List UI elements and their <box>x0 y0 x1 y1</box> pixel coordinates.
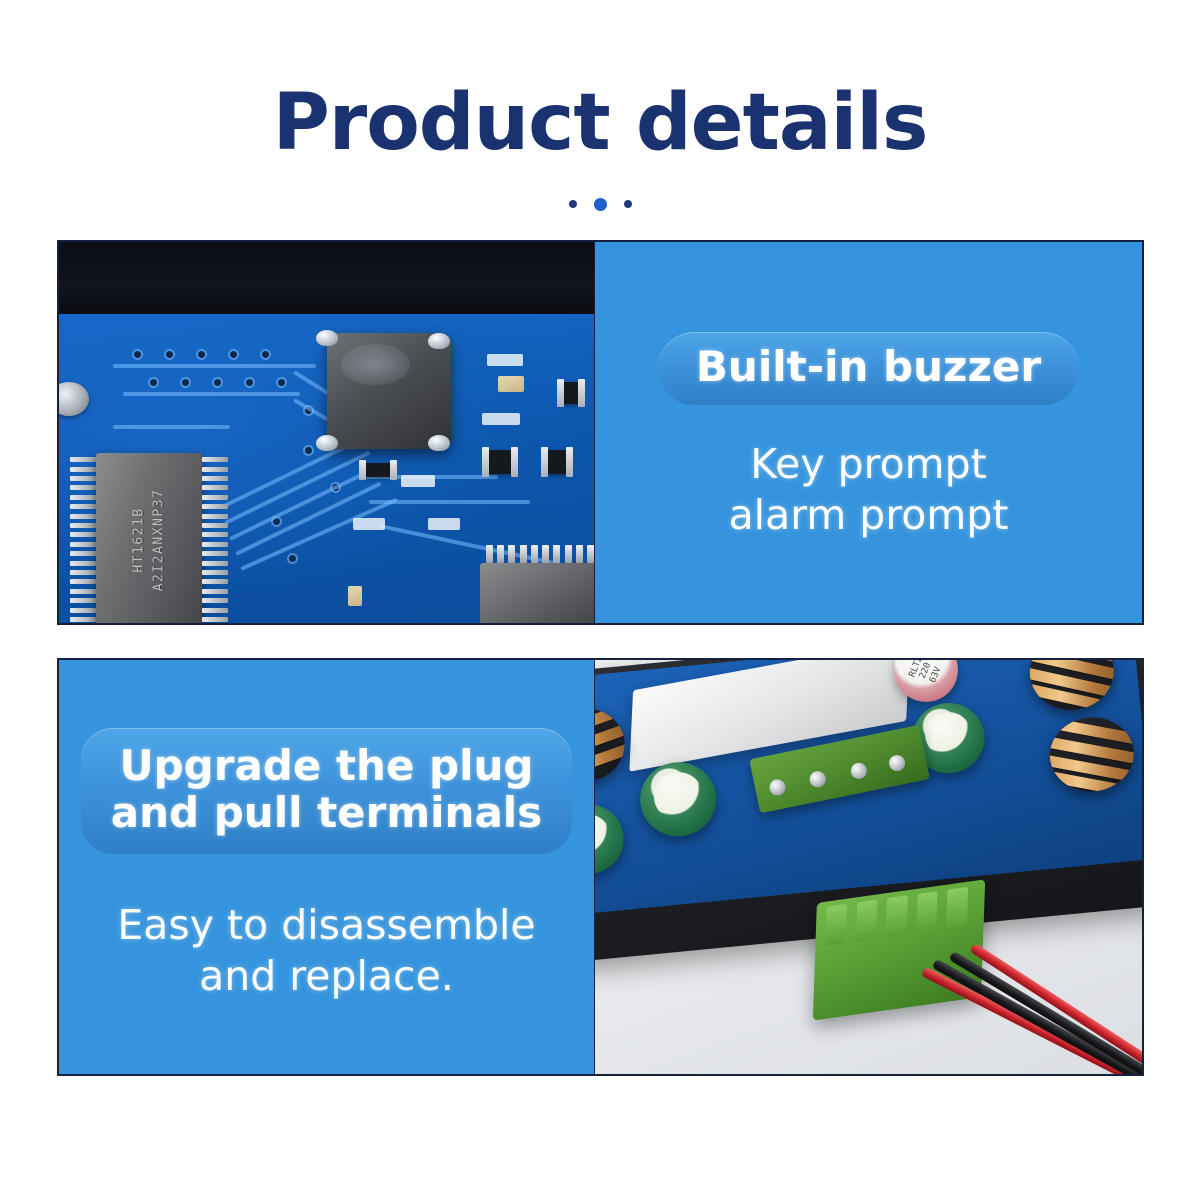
pcb-via <box>278 379 285 386</box>
buzzer-pill-label: Built-in buzzer <box>658 332 1079 405</box>
pcb-secondary-ic-pins <box>480 545 594 563</box>
pcb-trace <box>369 500 530 504</box>
dot-center-icon <box>594 198 607 211</box>
panel-row-bottom: Upgrade the plug and pull terminals Easy… <box>57 658 1144 1076</box>
module-toroid-inductor <box>594 706 628 785</box>
pcb-trace <box>123 392 300 396</box>
product-details-page: Product details <box>0 0 1200 1200</box>
pcb-pad <box>353 518 385 530</box>
pcb-via <box>246 379 253 386</box>
pcb-power-inductor <box>327 333 451 449</box>
pcb-pad <box>428 518 460 530</box>
upgrade-text-panel: Upgrade the plug and pull terminals Easy… <box>57 658 594 1076</box>
pcb-smd-component <box>546 450 568 474</box>
pcb-chip-pins-right <box>202 453 228 625</box>
pcb-smd-led <box>348 586 362 606</box>
pcb-secondary-ic <box>480 563 594 625</box>
upgrade-body-line-1: Easy to disassemble <box>117 900 535 951</box>
module-photo-image: RLTZ22063V <box>595 660 1142 1074</box>
upgrade-body-line-2: and replace. <box>117 951 535 1002</box>
module-capacitor <box>594 801 627 878</box>
pcb-solder-joint <box>428 435 450 451</box>
buzzer-body-text: Key prompt alarm prompt <box>729 439 1009 541</box>
module-toroid-inductor <box>1046 714 1137 796</box>
page-title: Product details <box>0 84 1200 162</box>
pcb-photo-image: HT1621BA2I2ANXNP37 <box>59 242 594 623</box>
pcb-mount-screw <box>57 382 89 416</box>
pcb-solder-joint <box>428 333 450 349</box>
dot-left-icon <box>569 200 577 208</box>
pcb-solder-joint <box>316 330 338 346</box>
pcb-main-ic: HT1621BA2I2ANXNP37 <box>96 453 202 625</box>
upgrade-pill-label: Upgrade the plug and pull terminals <box>81 728 572 854</box>
module-toroid-inductor <box>1027 658 1118 714</box>
pcb-trace <box>240 498 398 571</box>
pcb-smd-component <box>487 450 513 474</box>
pcb-trace <box>113 364 316 368</box>
module-wire-black <box>948 951 1144 1076</box>
pcb-via <box>182 379 189 386</box>
pcb-via <box>289 555 296 562</box>
pcb-via <box>166 351 173 358</box>
pcb-smd-transistor <box>364 463 392 477</box>
pcb-via <box>214 379 221 386</box>
pcb-solder-joint <box>316 435 338 451</box>
upgrade-body-text: Easy to disassemble and replace. <box>117 900 535 1002</box>
pcb-pad <box>487 354 523 366</box>
pcb-chip-marking-line1: HT1621B <box>132 507 147 572</box>
pcb-inductor-highlight <box>341 344 409 385</box>
pcb-pad <box>482 413 520 425</box>
module-photo-panel: RLTZ22063V <box>594 658 1144 1076</box>
buzzer-body-line-1: Key prompt <box>729 439 1009 490</box>
pcb-via <box>198 351 205 358</box>
buzzer-text-panel: Built-in buzzer Key prompt alarm prompt <box>594 240 1144 625</box>
panel-row-top: HT1621BA2I2ANXNP37 <box>57 240 1144 625</box>
pcb-trace <box>113 425 231 429</box>
upgrade-pill-line-2: and pull terminals <box>111 789 542 836</box>
pcb-trace <box>224 451 370 525</box>
pcb-photo-panel: HT1621BA2I2ANXNP37 <box>57 240 594 625</box>
pcb-chip-marking-line2: A2I2ANXNP37 <box>151 488 166 591</box>
pcb-via <box>262 351 269 358</box>
pcb-board-surface: HT1621BA2I2ANXNP37 <box>59 314 594 623</box>
decorative-dots <box>0 194 1200 214</box>
pcb-via <box>150 379 157 386</box>
pcb-chip-marking: HT1621BA2I2ANXNP37 <box>130 488 169 591</box>
pcb-via <box>305 447 312 454</box>
pcb-chip-pins-left <box>70 453 96 625</box>
dot-right-icon <box>624 200 632 208</box>
module-wire-black <box>932 959 1144 1076</box>
pcb-via <box>134 351 141 358</box>
pcb-black-band <box>59 242 594 314</box>
pcb-smd-resistor <box>498 376 524 392</box>
pcb-pad <box>401 475 435 487</box>
pcb-smd-component <box>562 382 580 404</box>
module-capacitor <box>637 759 720 840</box>
pcb-via <box>230 351 237 358</box>
module-capacitor-label: RLTZ22063V <box>908 658 945 688</box>
buzzer-body-line-2: alarm prompt <box>729 490 1009 541</box>
upgrade-pill-line-1: Upgrade the plug <box>111 742 542 789</box>
module-inner-pcb: RLTZ22063V <box>594 658 1144 915</box>
module-pluggable-connector <box>813 879 985 1020</box>
